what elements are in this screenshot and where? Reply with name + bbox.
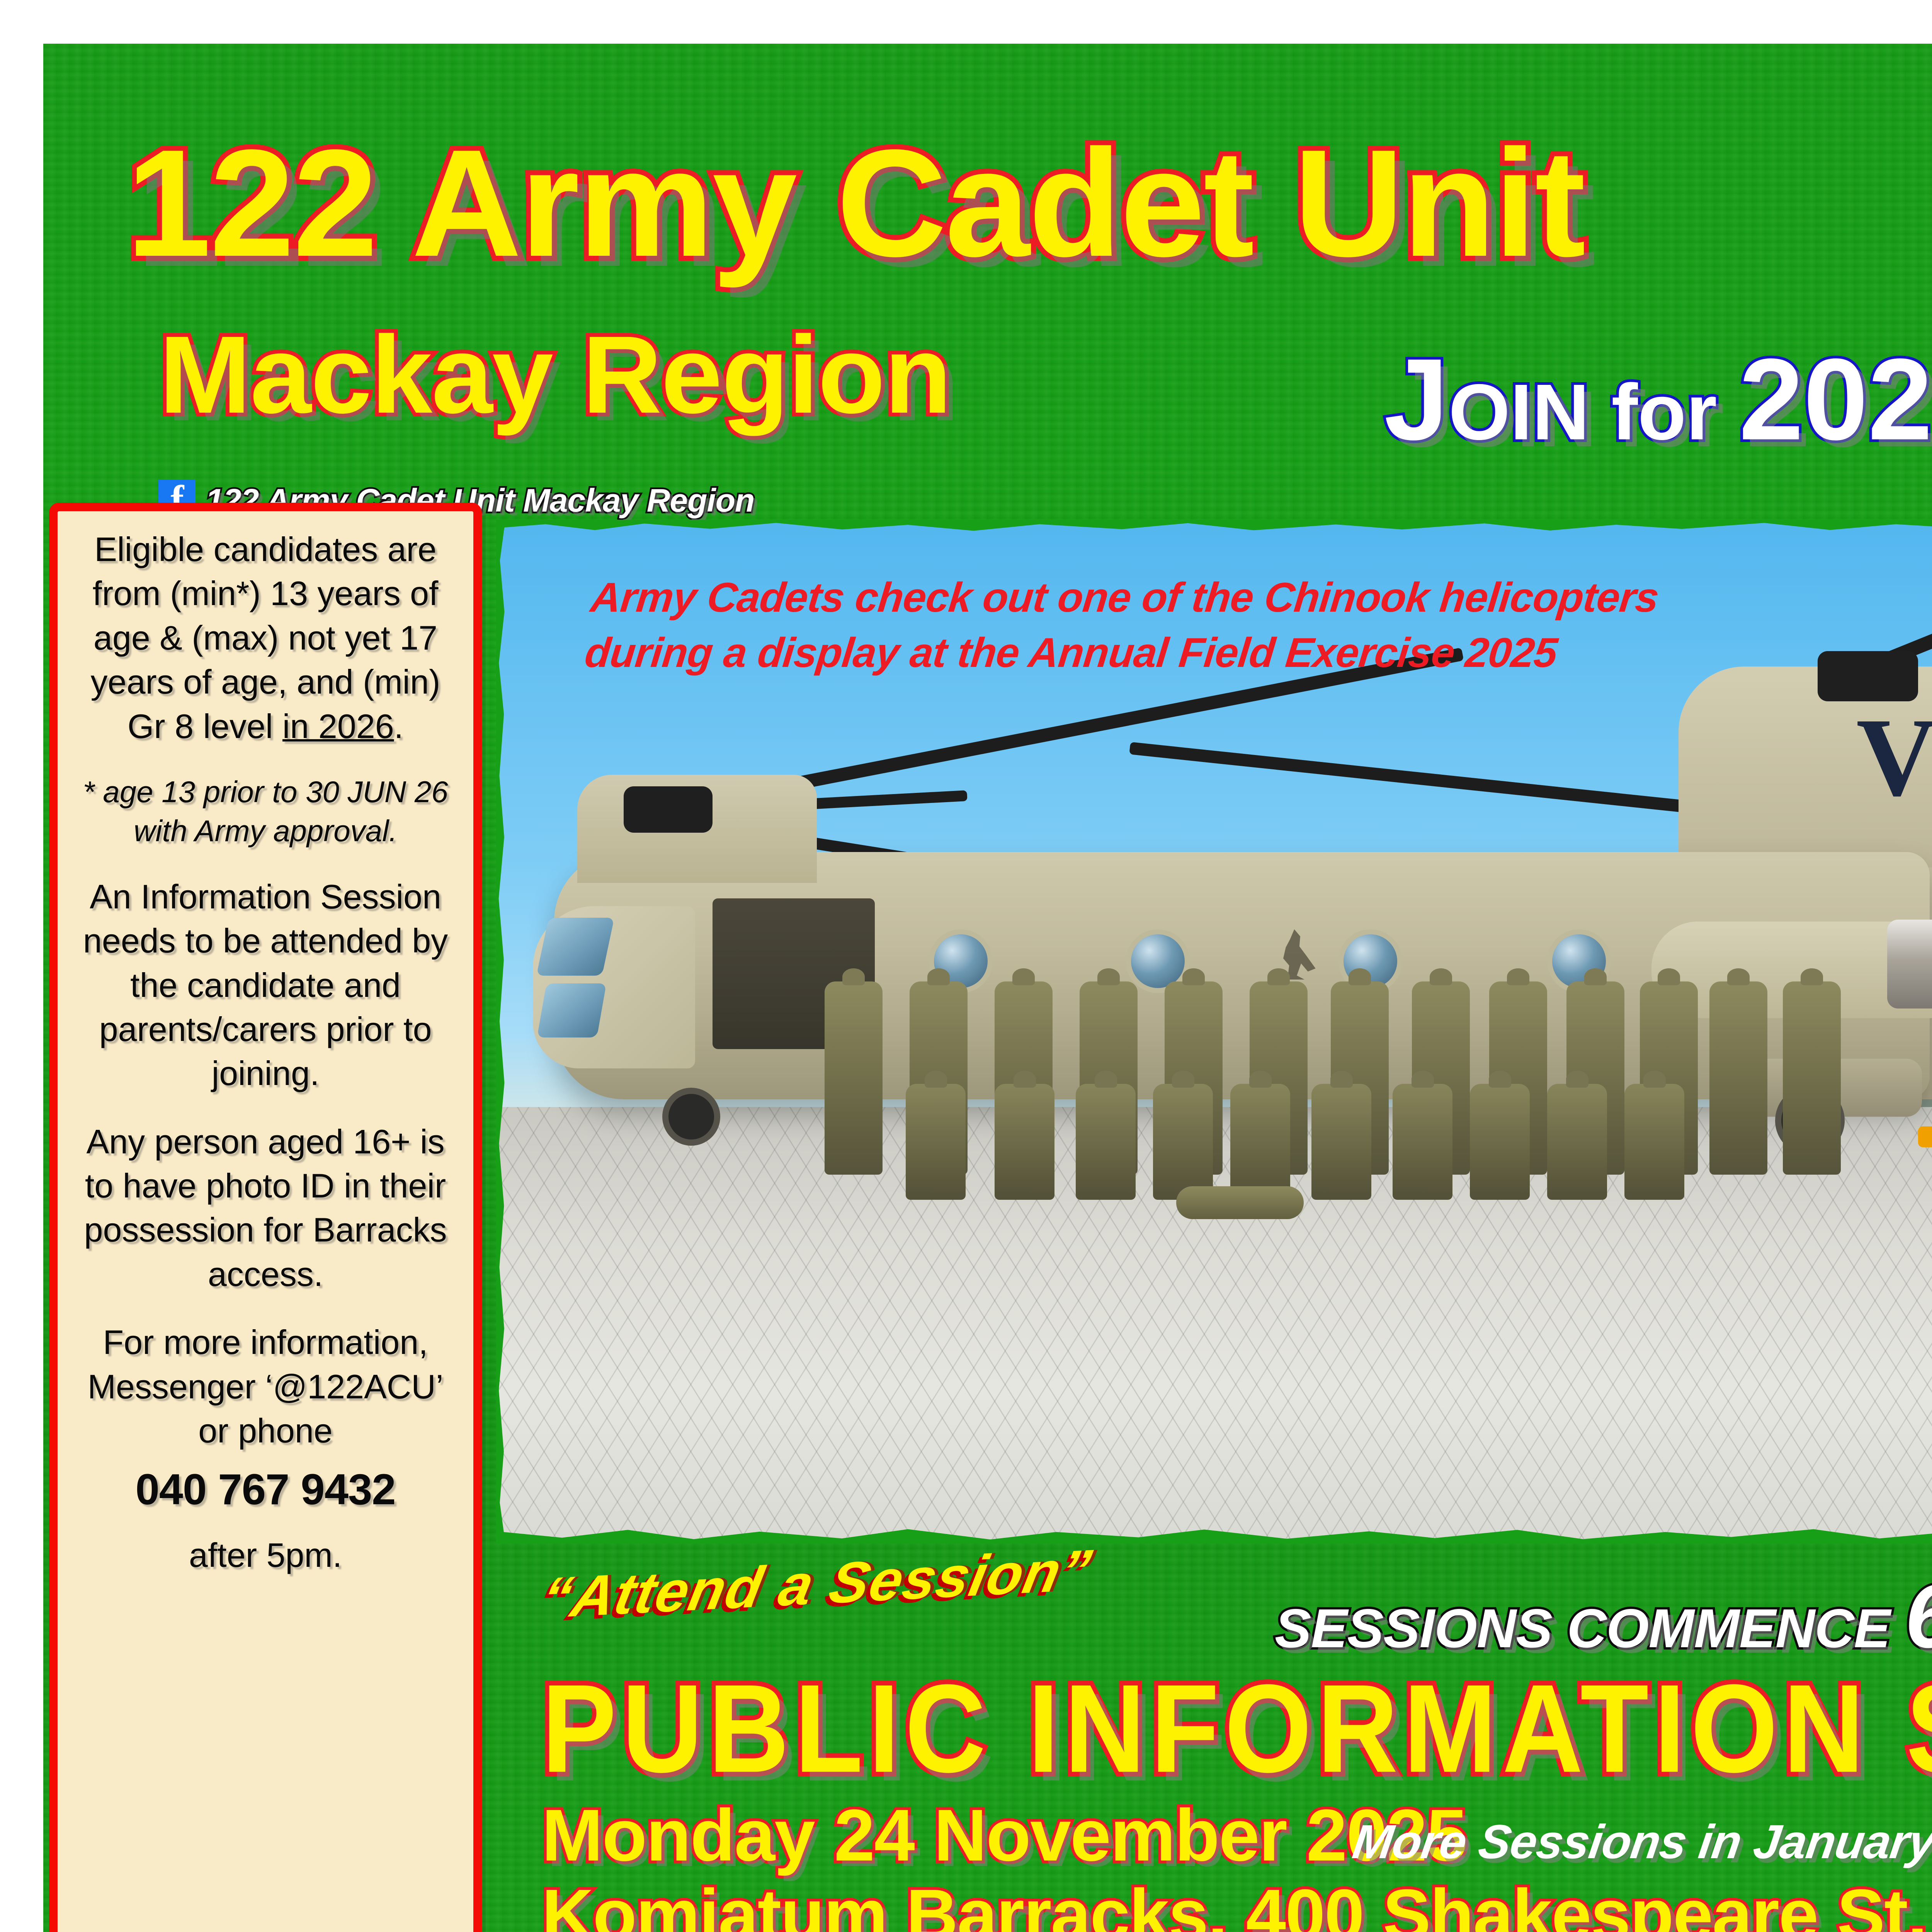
wheel-chock xyxy=(1918,1126,1932,1147)
session-address: Komiatum Barracks, 400 Shakespeare St, W… xyxy=(542,1879,1932,1932)
poster-header: 122 Army Cadet Unit Mackay Region JOIN f… xyxy=(43,44,1932,486)
contact-phone-note: after 5pm. xyxy=(71,1533,460,1577)
contact-phone-number[interactable]: 040 767 9432 xyxy=(71,1461,460,1518)
join-for-word: for xyxy=(1589,368,1739,456)
join-for-2026-badge: JOIN for 2026 xyxy=(1384,341,1932,457)
sessions-commence-hour: 6 xyxy=(1905,1566,1932,1667)
join-j-letter: J xyxy=(1384,334,1449,464)
cadet-figure xyxy=(1076,1084,1136,1200)
chinook-photo: V A15-313 Army Cadets check out one of t… xyxy=(496,520,1932,1544)
cadet-figure-prone xyxy=(1176,1186,1304,1219)
cadet-figure xyxy=(825,981,883,1175)
cadet-figure xyxy=(1624,1084,1684,1200)
public-information-session-headline: PUBLIC INFORMATION SESSION xyxy=(542,1666,1932,1791)
page-title: 122 Army Cadet Unit xyxy=(126,127,1584,279)
eligibility-footnote: * age 13 prior to 30 JUN 26 with Army ap… xyxy=(71,772,460,851)
contact-intro: For more information, Messenger ‘@122ACU… xyxy=(71,1320,460,1453)
cadet-figure xyxy=(1311,1084,1371,1200)
join-oin-letters: OIN xyxy=(1449,368,1589,456)
eligibility-text: Eligible candidates are from (min*) 13 y… xyxy=(71,527,460,748)
cadet-figure xyxy=(1783,981,1841,1175)
eligibility-text-post: . xyxy=(394,707,403,745)
cadet-figure xyxy=(995,1084,1054,1200)
forward-rotor-hub xyxy=(624,786,713,833)
photo-id-requirement: Any person aged 16+ is to have photo ID … xyxy=(71,1120,460,1297)
cockpit-window xyxy=(536,918,614,976)
cadet-figure xyxy=(1470,1084,1530,1200)
session-date: Monday 24 November 2025 xyxy=(542,1799,1466,1872)
photo-caption-line-2: during a display at the Annual Field Exe… xyxy=(582,625,1655,680)
join-year: 2026 xyxy=(1739,334,1932,464)
engine-exhaust xyxy=(1887,920,1932,1009)
more-sessions-note: More Sessions in January School Holidays xyxy=(1350,1818,1932,1866)
sessions-commence-time: SESSIONS COMMENCE 6pm xyxy=(1275,1572,1932,1662)
cadet-figure xyxy=(1709,981,1767,1175)
cadet-figure xyxy=(1393,1084,1452,1200)
info-session-requirement: An Information Session needs to be atten… xyxy=(71,875,460,1096)
cadet-figure xyxy=(1230,1084,1290,1200)
cockpit-window xyxy=(537,983,607,1037)
page-subtitle: Mackay Region xyxy=(159,320,951,430)
sessions-commence-label: SESSIONS COMMENCE xyxy=(1275,1598,1905,1659)
aft-rotor-hub xyxy=(1818,651,1918,701)
poster-canvas: 122 Army Cadet Unit Mackay Region JOIN f… xyxy=(43,44,1932,1932)
landing-wheel xyxy=(662,1088,720,1146)
photo-caption-line-1: Army Cadets check out one of the Chinook… xyxy=(588,570,1661,625)
eligibility-underline: in 2026 xyxy=(282,707,394,745)
tail-v-marking: V xyxy=(1856,701,1932,813)
eligibility-sidebar: Eligible candidates are from (min*) 13 y… xyxy=(49,503,482,1932)
cadet-figure xyxy=(1547,1084,1607,1200)
cadet-figure xyxy=(1153,1084,1213,1200)
photo-caption: Army Cadets check out one of the Chinook… xyxy=(582,570,1661,680)
cadet-figure xyxy=(906,1084,966,1200)
attend-a-session-script: “Attend a Session” xyxy=(536,1536,1097,1631)
